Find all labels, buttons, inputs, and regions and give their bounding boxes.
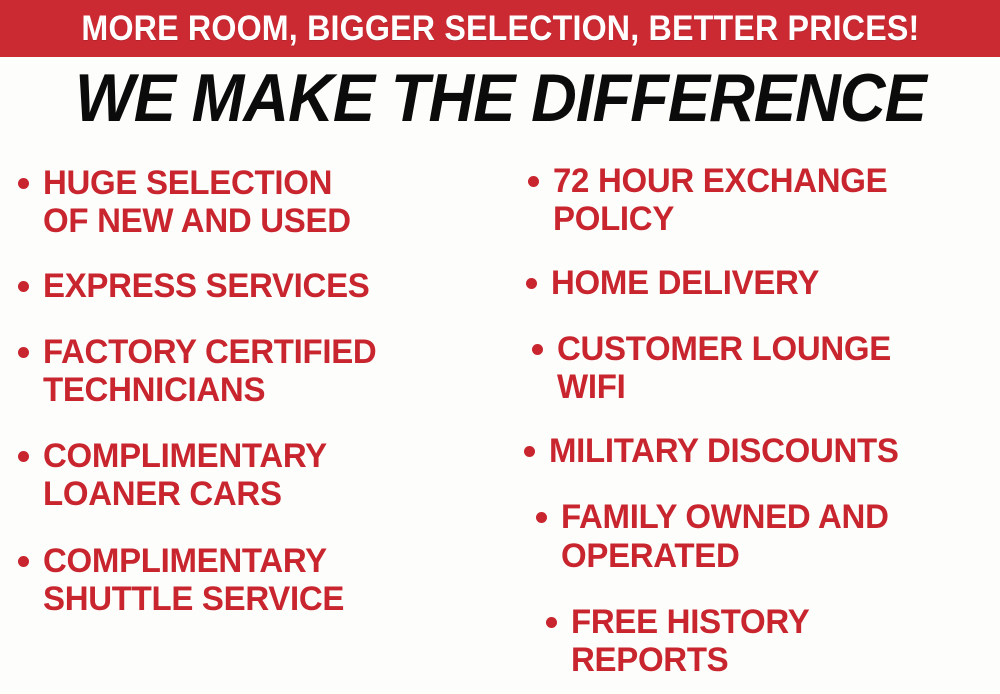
list-item: COMPLIMENTARY LOANER CARS bbox=[18, 437, 496, 513]
list-item-label: HOME DELIVERY bbox=[551, 264, 819, 302]
list-item: FREE HISTORY REPORTS bbox=[546, 603, 998, 679]
list-item: CUSTOMER LOUNGE WIFI bbox=[532, 330, 998, 406]
list-item-label: COMPLIMENTARY LOANER CARS bbox=[43, 437, 327, 513]
list-item: 72 HOUR EXCHANGE POLICY bbox=[528, 162, 998, 238]
list-item-label: FAMILY OWNED AND OPERATED bbox=[561, 498, 889, 574]
bullet-dot-icon bbox=[18, 281, 29, 292]
list-item: COMPLIMENTARY SHUTTLE SERVICE bbox=[18, 542, 496, 618]
bullet-dot-icon bbox=[524, 446, 535, 457]
list-item: FAMILY OWNED AND OPERATED bbox=[536, 498, 998, 574]
promotional-poster: MORE ROOM, BIGGER SELECTION, BETTER PRIC… bbox=[0, 0, 1000, 694]
list-item-label: 72 HOUR EXCHANGE POLICY bbox=[553, 162, 887, 238]
list-item-label: CUSTOMER LOUNGE WIFI bbox=[557, 330, 891, 406]
headline-text: WE MAKE THE DIFFERENCE bbox=[75, 64, 926, 132]
benefits-column-left: HUGE SELECTION OF NEW AND USED EXPRESS S… bbox=[0, 160, 500, 694]
bullet-dot-icon bbox=[536, 512, 547, 523]
list-item-label: COMPLIMENTARY SHUTTLE SERVICE bbox=[43, 542, 344, 618]
bullet-dot-icon bbox=[18, 347, 29, 358]
bullet-dot-icon bbox=[528, 176, 539, 187]
bullet-dot-icon bbox=[546, 617, 557, 628]
list-item: MILITARY DISCOUNTS bbox=[524, 432, 998, 470]
list-item: HOME DELIVERY bbox=[526, 264, 998, 302]
header-banner-text: MORE ROOM, BIGGER SELECTION, BETTER PRIC… bbox=[81, 11, 919, 46]
list-item: FACTORY CERTIFIED TECHNICIANS bbox=[18, 333, 496, 409]
list-item-label: FREE HISTORY REPORTS bbox=[571, 603, 809, 679]
list-item-label: EXPRESS SERVICES bbox=[43, 267, 370, 305]
benefits-columns: HUGE SELECTION OF NEW AND USED EXPRESS S… bbox=[0, 160, 1000, 694]
header-banner: MORE ROOM, BIGGER SELECTION, BETTER PRIC… bbox=[0, 0, 1000, 57]
bullet-dot-icon bbox=[532, 344, 543, 355]
list-item-label: FACTORY CERTIFIED TECHNICIANS bbox=[43, 333, 376, 409]
list-item-label: HUGE SELECTION OF NEW AND USED bbox=[43, 164, 351, 240]
bullet-dot-icon bbox=[18, 451, 29, 462]
list-item: EXPRESS SERVICES bbox=[18, 267, 496, 305]
bullet-dot-icon bbox=[526, 278, 537, 289]
bullet-dot-icon bbox=[18, 556, 29, 567]
list-item: HUGE SELECTION OF NEW AND USED bbox=[18, 164, 496, 240]
list-item-label: MILITARY DISCOUNTS bbox=[549, 432, 899, 470]
headline: WE MAKE THE DIFFERENCE bbox=[0, 64, 1000, 132]
bullet-dot-icon bbox=[18, 178, 29, 189]
benefits-column-right: 72 HOUR EXCHANGE POLICY HOME DELIVERY CU… bbox=[500, 160, 1000, 694]
